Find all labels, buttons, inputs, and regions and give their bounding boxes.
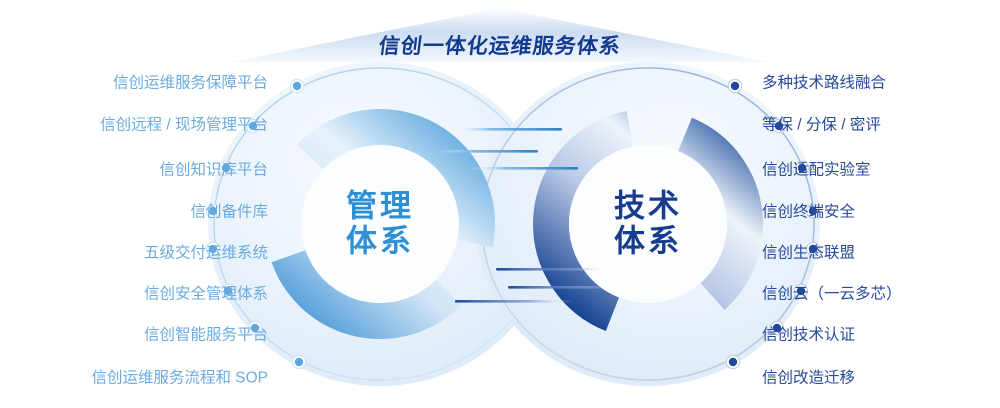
right-label-6[interactable]: 信创技术认证 [762,327,855,343]
left-label-list: 信创运维服务保障平台信创远程 / 现场管理平台信创知识库平台信创备件库五级交付运… [0,0,268,408]
right-node-dot-7[interactable] [729,358,737,366]
infographic-canvas: 信创一体化运维服务体系 信创运维服务保障平台信创远程 / 现场管理平台信创知识库… [0,0,1000,408]
left-label-7[interactable]: 信创运维服务流程和 SOP [91,370,268,386]
left-label-4[interactable]: 五级交付运维系统 [144,245,268,261]
right-label-4[interactable]: 信创生态联盟 [762,245,855,261]
left-label-0[interactable]: 信创运维服务保障平台 [113,75,268,91]
right-label-3[interactable]: 信创终端安全 [762,204,855,220]
right-hub-label: 技术 体系 [614,189,682,260]
right-label-0[interactable]: 多种技术路线融合 [762,75,886,91]
left-node-dot-0[interactable] [293,82,301,90]
left-label-5[interactable]: 信创安全管理体系 [144,286,268,302]
left-label-2[interactable]: 信创知识库平台 [159,162,268,178]
right-label-5[interactable]: 信创云（一云多芯） [762,286,902,302]
left-hub-label: 管理 体系 [346,189,414,260]
left-node-dot-7[interactable] [295,358,303,366]
right-label-2[interactable]: 信创适配实验室 [762,162,871,178]
left-label-1[interactable]: 信创远程 / 现场管理平台 [100,117,268,133]
left-label-6[interactable]: 信创智能服务平台 [144,327,268,343]
right-node-dot-0[interactable] [731,82,739,90]
right-label-1[interactable]: 等保 / 分保 / 密评 [762,117,881,133]
right-label-list: 多种技术路线融合等保 / 分保 / 密评信创适配实验室信创终端安全信创生态联盟信… [762,0,1000,408]
right-label-7[interactable]: 信创改造迁移 [762,370,855,386]
left-label-3[interactable]: 信创备件库 [190,204,268,220]
